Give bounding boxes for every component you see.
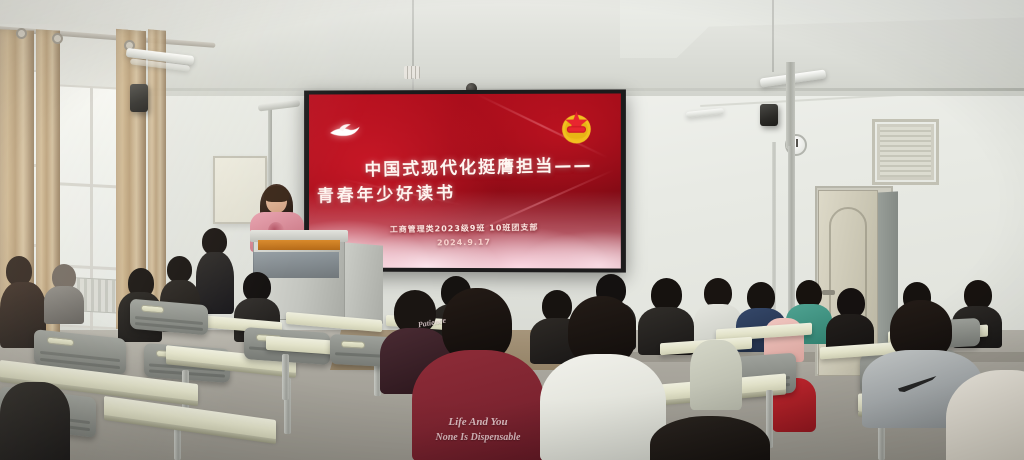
student-olive-top <box>690 340 742 410</box>
desk-leg <box>282 354 289 400</box>
student-black-top <box>650 416 770 460</box>
classroom-scene: 中国式现代化挺膺担当—— 青春年少好读书 工商管理类2023级9班 10班团支部… <box>0 0 1024 460</box>
curtain-ring <box>52 33 63 44</box>
wall-speaker <box>760 104 778 126</box>
hanging-wire <box>772 0 774 72</box>
presenter-hair-front <box>264 186 289 202</box>
wall-speaker <box>130 84 148 112</box>
transom-window <box>877 124 934 180</box>
student-maroon-graphic-tee: Life And You None Is Dispensable <box>412 288 544 460</box>
student-black-top <box>0 382 70 460</box>
lectern-side <box>345 242 383 323</box>
curtain-ring <box>16 28 27 39</box>
led-title-line-1: 中国式现代化挺膺担当—— <box>323 150 621 182</box>
led-display-surface: 中国式现代化挺膺担当—— 青春年少好读书 工商管理类2023级9班 10班团支部… <box>309 93 621 268</box>
student-cream-top <box>946 370 1024 460</box>
student-back-row-left <box>44 264 84 320</box>
student-white-tee <box>540 296 666 460</box>
student-dark-tee <box>196 228 234 314</box>
white-dove-icon <box>328 122 362 140</box>
communist-youth-league-emblem <box>557 108 595 146</box>
cable-conduit <box>786 62 795 148</box>
lectern-trim <box>258 240 340 250</box>
hanging-wire <box>412 0 414 68</box>
